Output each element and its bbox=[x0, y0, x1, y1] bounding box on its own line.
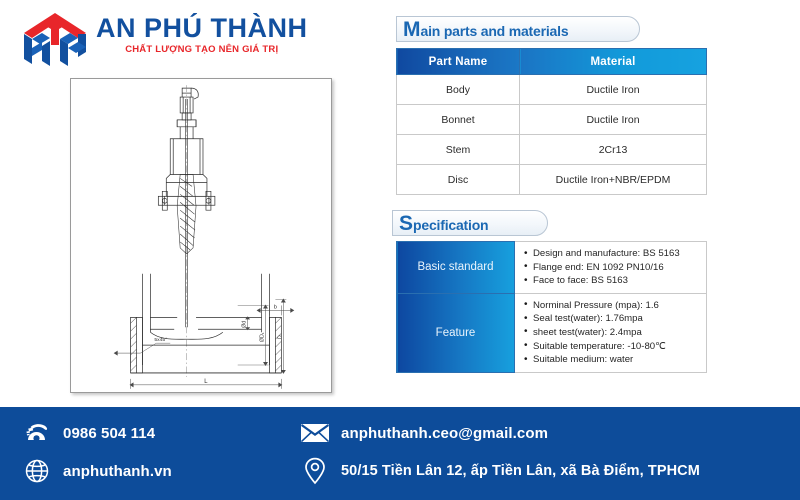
apt-monogram-logo bbox=[18, 12, 92, 68]
cell-material: 2Cr13 bbox=[520, 135, 707, 165]
section-title-capital: S bbox=[399, 214, 413, 234]
table-row: Stem 2Cr13 bbox=[397, 135, 707, 165]
section-title-rest: pecification bbox=[413, 218, 488, 232]
table-row: Body Ductile Iron bbox=[397, 75, 707, 105]
cell-part-name: Stem bbox=[397, 135, 520, 165]
brand-name: AN PHÚ THÀNH bbox=[96, 14, 308, 42]
spec-value: Norminal Pressure (mpa): 1.6 Seal test(w… bbox=[515, 293, 707, 372]
spec-label: Feature bbox=[397, 293, 515, 372]
list-item: Design and manufacture: BS 5163 bbox=[524, 247, 702, 261]
column-header-material: Material bbox=[520, 49, 707, 75]
svg-text:5x45°: 5x45° bbox=[154, 337, 167, 343]
footer-phone-text: 0986 504 114 bbox=[63, 425, 155, 442]
brand-logo: AN PHÚ THÀNH CHẤT LƯỢNG TẠO NÊN GIÁ TRỊ bbox=[18, 8, 318, 70]
svg-text:L: L bbox=[204, 379, 208, 385]
brand-tagline: CHẤT LƯỢNG TẠO NÊN GIÁ TRỊ bbox=[96, 44, 308, 55]
section-title-rest: ain parts and materials bbox=[421, 24, 569, 38]
main-parts-table: Part Name Material Body Ductile Iron Bon… bbox=[396, 48, 707, 195]
footer-website[interactable]: anphuthanh.vn bbox=[22, 456, 172, 486]
list-item: Suitable medium: water bbox=[524, 353, 702, 367]
footer-website-text: anphuthanh.vn bbox=[63, 463, 172, 480]
svg-text:ØD₁: ØD₁ bbox=[260, 332, 266, 342]
svg-text:D: D bbox=[277, 335, 283, 339]
spec-bullet-list: Design and manufacture: BS 5163 Flange e… bbox=[524, 247, 702, 288]
spec-row-basic-standard: Basic standard Design and manufacture: B… bbox=[397, 242, 707, 294]
spec-value: Design and manufacture: BS 5163 Flange e… bbox=[515, 242, 707, 294]
list-item: Norminal Pressure (mpa): 1.6 bbox=[524, 299, 702, 313]
cell-part-name: Disc bbox=[397, 165, 520, 195]
globe-icon bbox=[22, 456, 52, 486]
datasheet-page: AN PHÚ THÀNH CHẤT LƯỢNG TẠO NÊN GIÁ TRỊ bbox=[0, 0, 800, 500]
cell-material: Ductile Iron+NBR/EPDM bbox=[520, 165, 707, 195]
specification-table: Basic standard Design and manufacture: B… bbox=[396, 241, 707, 373]
footer-email[interactable]: anphuthanh.ceo@gmail.com bbox=[300, 418, 548, 448]
list-item: Suitable temperature: -10-80℃ bbox=[524, 340, 702, 354]
spec-row-feature: Feature Norminal Pressure (mpa): 1.6 Sea… bbox=[397, 293, 707, 372]
footer-divider bbox=[0, 405, 800, 407]
footer-email-text: anphuthanh.ceo@gmail.com bbox=[341, 425, 548, 442]
list-item: Face to face: BS 5163 bbox=[524, 274, 702, 288]
cell-material: Ductile Iron bbox=[520, 105, 707, 135]
section-title-specification: S pecification bbox=[392, 210, 548, 236]
location-pin-icon bbox=[300, 456, 330, 486]
contact-footer: 0986 504 114 anphuthanh.vn bbox=[0, 405, 800, 500]
spec-bullet-list: Norminal Pressure (mpa): 1.6 Seal test(w… bbox=[524, 299, 702, 367]
section-title-capital: M bbox=[403, 20, 421, 40]
list-item: Seal test(water): 1.76mpa bbox=[524, 312, 702, 326]
footer-phone[interactable]: 0986 504 114 bbox=[22, 418, 155, 448]
svg-text:b: b bbox=[274, 304, 277, 310]
envelope-icon bbox=[300, 418, 330, 448]
section-title-main-parts: M ain parts and materials bbox=[396, 16, 640, 42]
column-header-part-name: Part Name bbox=[397, 49, 520, 75]
table-row: Bonnet Ductile Iron bbox=[397, 105, 707, 135]
list-item: sheet test(water): 2.4mpa bbox=[524, 326, 702, 340]
footer-address[interactable]: 50/15 Tiền Lân 12, ấp Tiền Lân, xã Bà Đi… bbox=[300, 456, 700, 486]
table-header-row: Part Name Material bbox=[397, 49, 707, 75]
gate-valve-cross-section-drawing: Ød ØD₁ D L b bbox=[70, 78, 332, 393]
svg-text:Ød: Ød bbox=[242, 321, 248, 328]
footer-address-text: 50/15 Tiền Lân 12, ấp Tiền Lân, xã Bà Đi… bbox=[341, 463, 700, 479]
cell-part-name: Bonnet bbox=[397, 105, 520, 135]
table-row: Disc Ductile Iron+NBR/EPDM bbox=[397, 165, 707, 195]
cell-part-name: Body bbox=[397, 75, 520, 105]
spec-label: Basic standard bbox=[397, 242, 515, 294]
list-item: Flange end: EN 1092 PN10/16 bbox=[524, 261, 702, 275]
cell-material: Ductile Iron bbox=[520, 75, 707, 105]
phone-icon bbox=[22, 418, 52, 448]
